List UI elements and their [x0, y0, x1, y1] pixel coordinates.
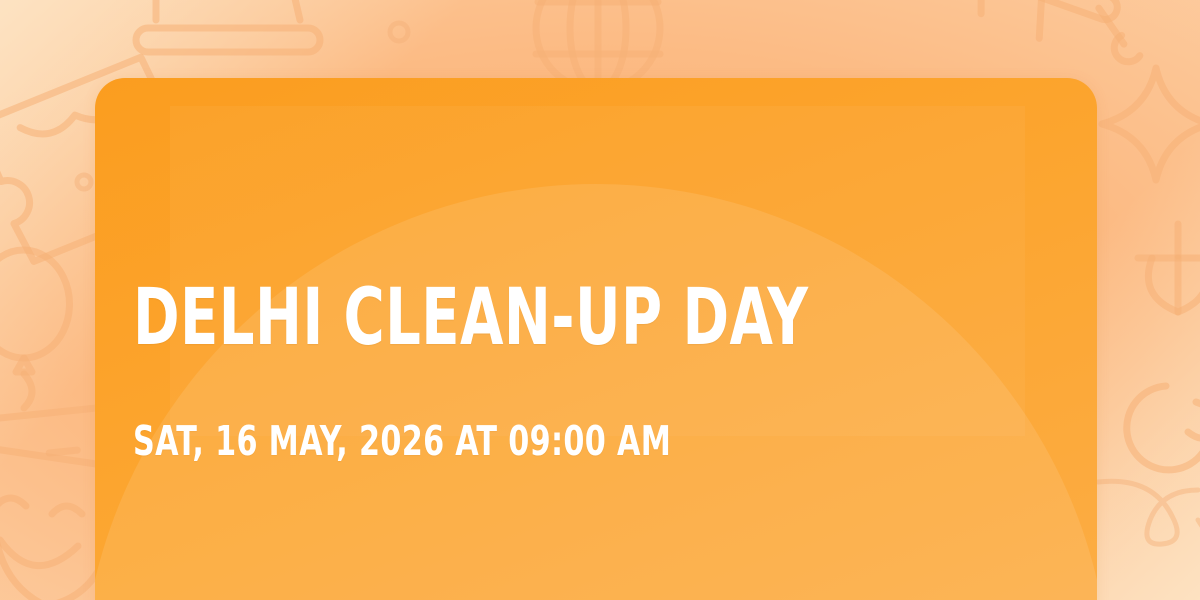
event-datetime: SAT, 16 MAY, 2026 AT 09:00 AM	[133, 419, 671, 464]
event-card: DELHI CLEAN-UP DAY SAT, 16 MAY, 2026 AT …	[95, 78, 1097, 600]
event-banner: DELHI CLEAN-UP DAY SAT, 16 MAY, 2026 AT …	[0, 0, 1200, 600]
event-title: DELHI CLEAN-UP DAY	[133, 278, 808, 360]
event-card-content: DELHI CLEAN-UP DAY SAT, 16 MAY, 2026 AT …	[133, 78, 1059, 600]
